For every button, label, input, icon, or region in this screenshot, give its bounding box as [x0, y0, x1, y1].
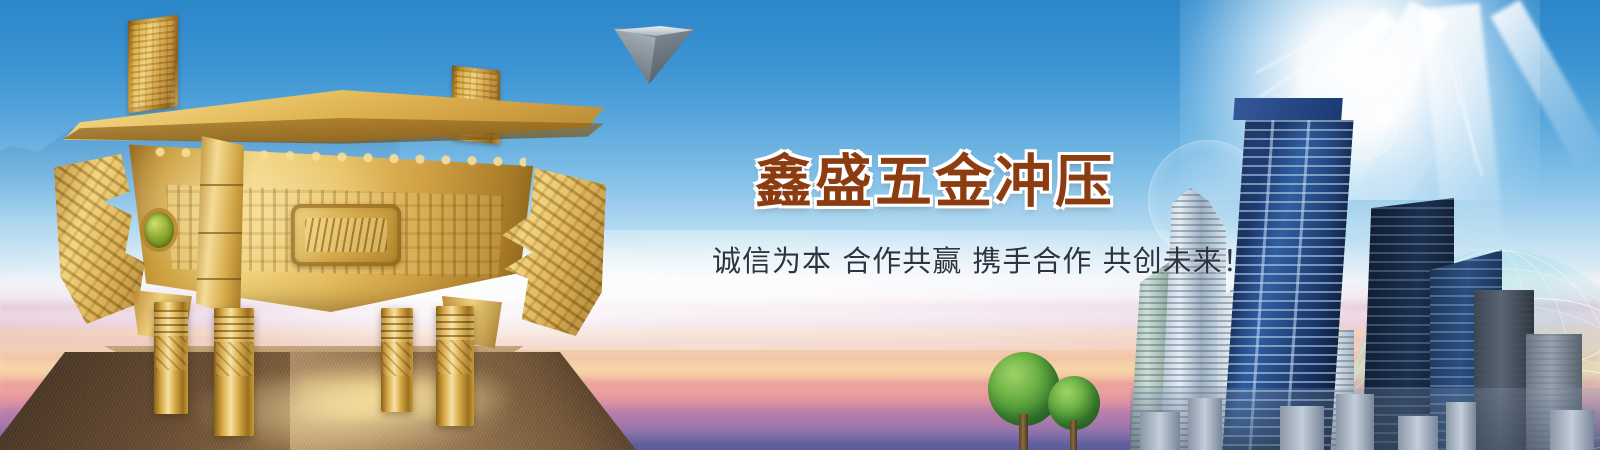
banner-subtitle: 诚信为本 合作共赢 携手合作 共创未来！: [712, 238, 1253, 280]
ding-leg: [154, 302, 188, 414]
ding-jade-boss: [144, 212, 174, 248]
ding-center-flange: [196, 136, 244, 326]
ding-leg: [436, 306, 474, 426]
banner-title: 鑫盛五金冲压: [755, 136, 1115, 218]
lowrise-buildings: [1130, 388, 1600, 450]
building-crown: [1233, 98, 1343, 120]
tree-trunk: [1019, 414, 1028, 450]
ding-leg: [381, 308, 413, 412]
tree: [1048, 376, 1100, 450]
tree-trunk: [1070, 420, 1077, 450]
golden-ding-vessel: [36, 8, 656, 426]
metallic-triangle-icon: [614, 26, 694, 84]
ding-cartouche: [291, 204, 401, 266]
ding-leg: [214, 308, 254, 436]
hero-banner: 鑫盛五金冲压 诚信为本 合作共赢 携手合作 共创未来！: [0, 0, 1600, 450]
ding-handle-left: [128, 15, 178, 113]
